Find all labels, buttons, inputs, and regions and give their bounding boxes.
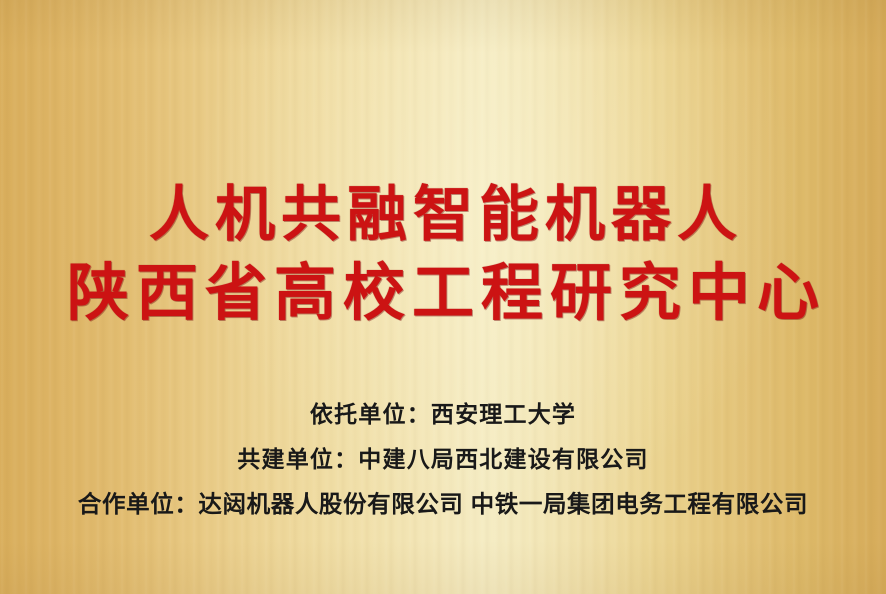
plaque-title: 人机共融智能机器人 陕西省高校工程研究中心 — [0, 176, 886, 332]
affiliation-partners: 合作单位：达闼机器人股份有限公司 中铁一局集团电务工程有限公司 — [0, 482, 886, 527]
title-line-1: 人机共融智能机器人 — [0, 176, 886, 254]
affiliation-co-builder: 共建单位：中建八局西北建设有限公司 — [0, 437, 886, 482]
affiliation-host-institution: 依托单位：西安理工大学 — [0, 392, 886, 437]
title-line-2: 陕西省高校工程研究中心 — [0, 254, 886, 332]
plaque-content: 人机共融智能机器人 陕西省高校工程研究中心 依托单位：西安理工大学 共建单位：中… — [0, 0, 886, 594]
plaque-affiliations: 依托单位：西安理工大学 共建单位：中建八局西北建设有限公司 合作单位：达闼机器人… — [0, 392, 886, 527]
plaque-board: 人机共融智能机器人 陕西省高校工程研究中心 依托单位：西安理工大学 共建单位：中… — [0, 0, 886, 594]
